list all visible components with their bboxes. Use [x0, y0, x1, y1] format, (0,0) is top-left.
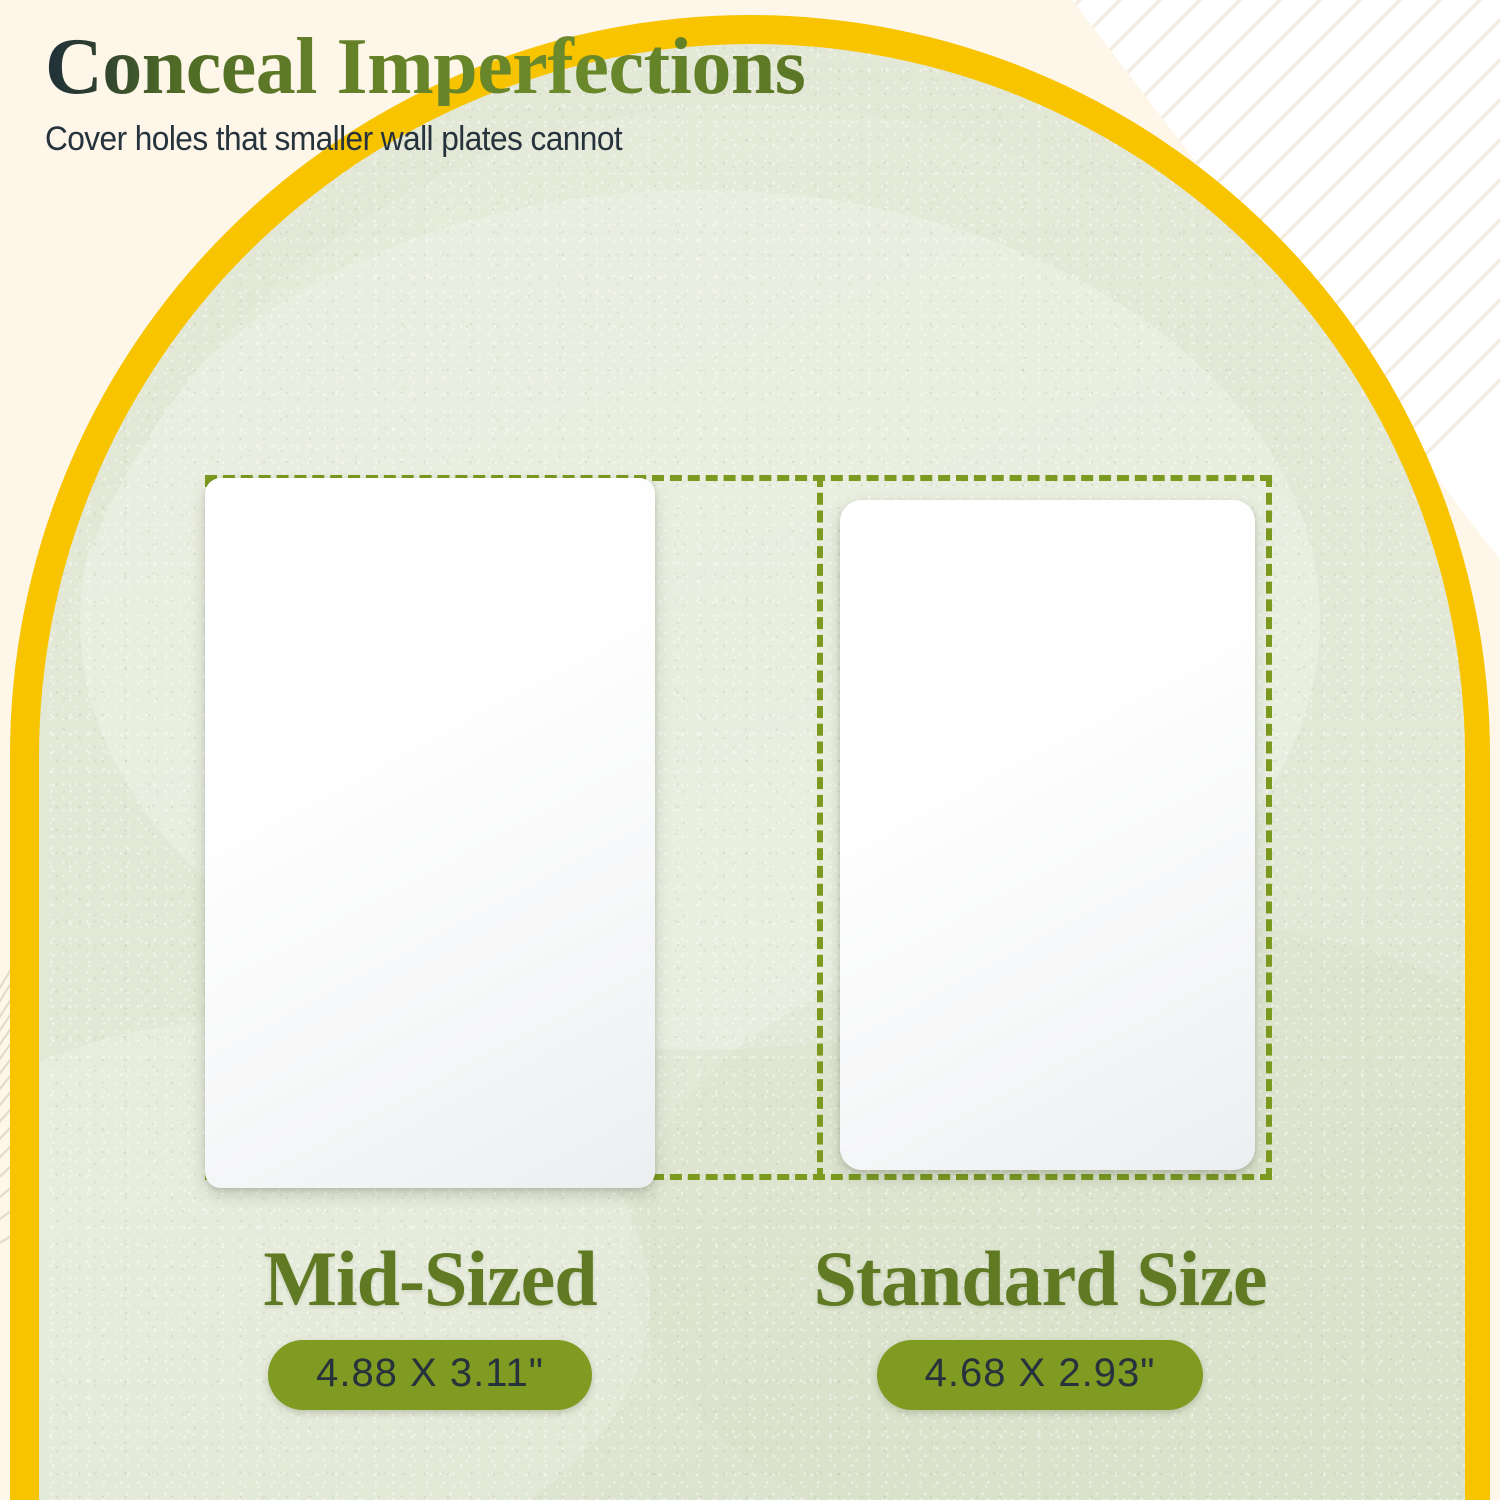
infographic-canvas: Conceal Imperfections Cover holes that s…	[0, 0, 1500, 1500]
mid-sized-name: Mid-Sized	[150, 1240, 710, 1318]
standard-size-plate-image	[840, 500, 1255, 1170]
dashed-center-divider	[817, 475, 823, 1180]
mid-sized-dimensions-badge: 4.88 X 3.11"	[268, 1340, 592, 1410]
mid-sized-label-group: Mid-Sized 4.88 X 3.11"	[150, 1240, 710, 1410]
standard-size-dimensions-badge: 4.68 X 2.93"	[877, 1340, 1204, 1410]
standard-size-label-group: Standard Size 4.68 X 2.93"	[730, 1240, 1350, 1410]
standard-size-name: Standard Size	[730, 1240, 1350, 1318]
mid-sized-plate-image	[205, 478, 655, 1188]
